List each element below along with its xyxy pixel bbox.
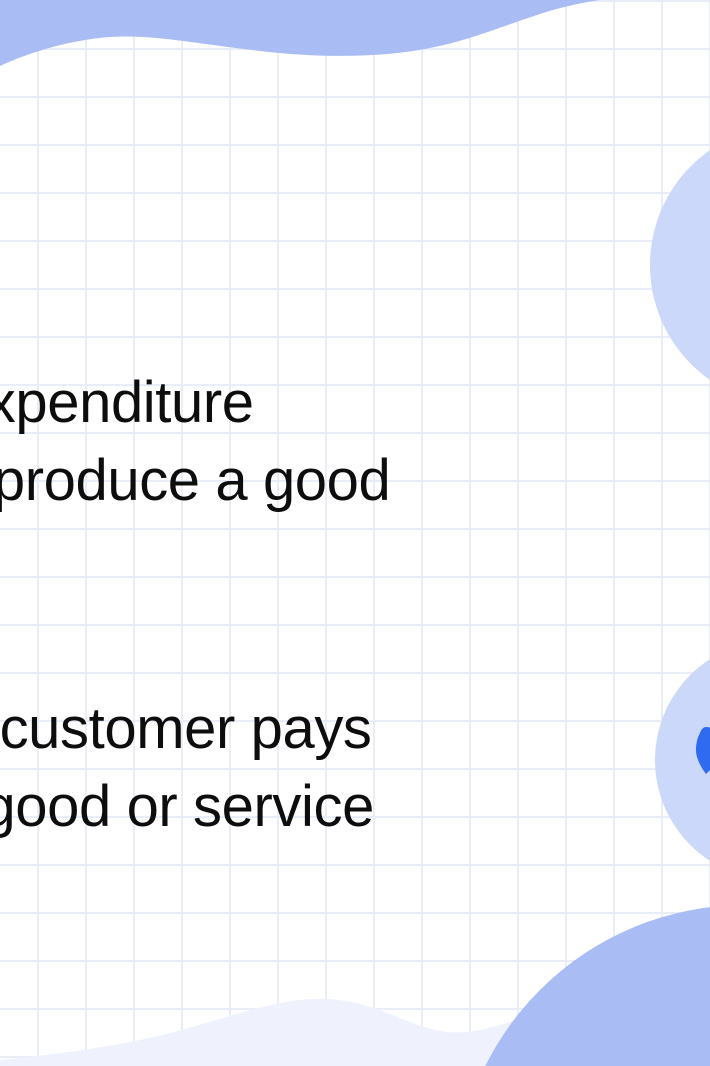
definition-text-block: ss expenditure d to produce a good [0, 364, 390, 520]
definition-line-2: d to produce a good [0, 442, 390, 520]
slide-canvas: ss expenditure d to produce a good u cus… [0, 0, 710, 1066]
price-text-block: u customer pays t good or service [0, 690, 374, 846]
price-line-2: t good or service [0, 768, 374, 846]
definition-line-1: ss expenditure [0, 364, 390, 442]
text-content-layer: ss expenditure d to produce a good u cus… [0, 0, 710, 1066]
price-line-1: u customer pays [0, 690, 374, 768]
